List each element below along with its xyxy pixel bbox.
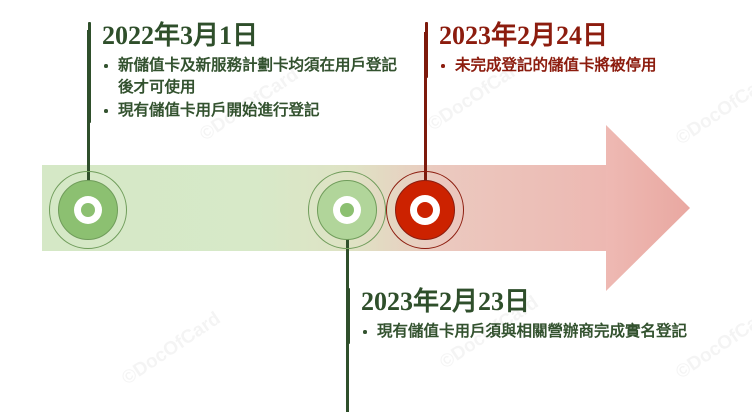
callout-event-2022-03-01: 2022年3月1日 新儲值卡及新服務計劃卡均須在用戶登記後才可使用 現有儲值卡用… xyxy=(88,22,398,123)
bullet-dot-icon xyxy=(104,64,108,68)
callout-accent-bar xyxy=(88,22,91,123)
list-item: 新儲值卡及新服務計劃卡均須在用戶登記後才可使用 xyxy=(102,55,398,99)
callout-bullet-list: 未完成登記的儲值卡將被停用 xyxy=(439,55,665,77)
timeline-marker-2023-02-24[interactable] xyxy=(386,171,464,249)
callout-bullet-list: 現有儲值卡用戶須與相關營辦商完成實名登記 xyxy=(361,321,697,343)
bullet-dot-icon xyxy=(104,109,108,113)
callout-accent-bar xyxy=(347,288,350,344)
list-item: 現有儲值卡用戶開始進行登記 xyxy=(102,100,398,122)
marker-center-dot-icon xyxy=(417,202,433,218)
callout-event-2023-02-23: 2023年2月23日 現有儲值卡用戶須與相關營辦商完成實名登記 xyxy=(347,288,697,344)
list-item: 未完成登記的儲值卡將被停用 xyxy=(439,55,665,77)
bullet-text: 現有儲值卡用戶開始進行登記 xyxy=(118,102,320,119)
bullet-text: 未完成登記的儲值卡將被停用 xyxy=(455,57,657,74)
callout-accent-bar xyxy=(425,22,428,78)
callout-date-title: 2023年2月23日 xyxy=(361,288,697,317)
marker-center-dot-icon xyxy=(81,203,95,217)
timeline-diagram: 2022年3月1日 新儲值卡及新服務計劃卡均須在用戶登記後才可使用 現有儲值卡用… xyxy=(0,0,752,412)
marker-center-dot-icon xyxy=(340,203,354,217)
timeline-marker-2023-02-23[interactable] xyxy=(308,171,386,249)
callout-date-title: 2022年3月1日 xyxy=(102,22,398,51)
timeline-arrow-head xyxy=(606,125,690,291)
timeline-marker-2022-03-01[interactable] xyxy=(49,171,127,249)
bullet-text: 新儲值卡及新服務計劃卡均須在用戶登記後才可使用 xyxy=(118,57,397,96)
list-item: 現有儲值卡用戶須與相關營辦商完成實名登記 xyxy=(361,321,697,343)
callout-date-title: 2023年2月24日 xyxy=(439,22,665,51)
callout-bullet-list: 新儲值卡及新服務計劃卡均須在用戶登記後才可使用 現有儲值卡用戶開始進行登記 xyxy=(102,55,398,122)
bullet-text: 現有儲值卡用戶須與相關營辦商完成實名登記 xyxy=(377,323,687,340)
callout-event-2023-02-24: 2023年2月24日 未完成登記的儲值卡將被停用 xyxy=(425,22,665,78)
bullet-dot-icon xyxy=(363,330,367,334)
bullet-dot-icon xyxy=(441,64,445,68)
